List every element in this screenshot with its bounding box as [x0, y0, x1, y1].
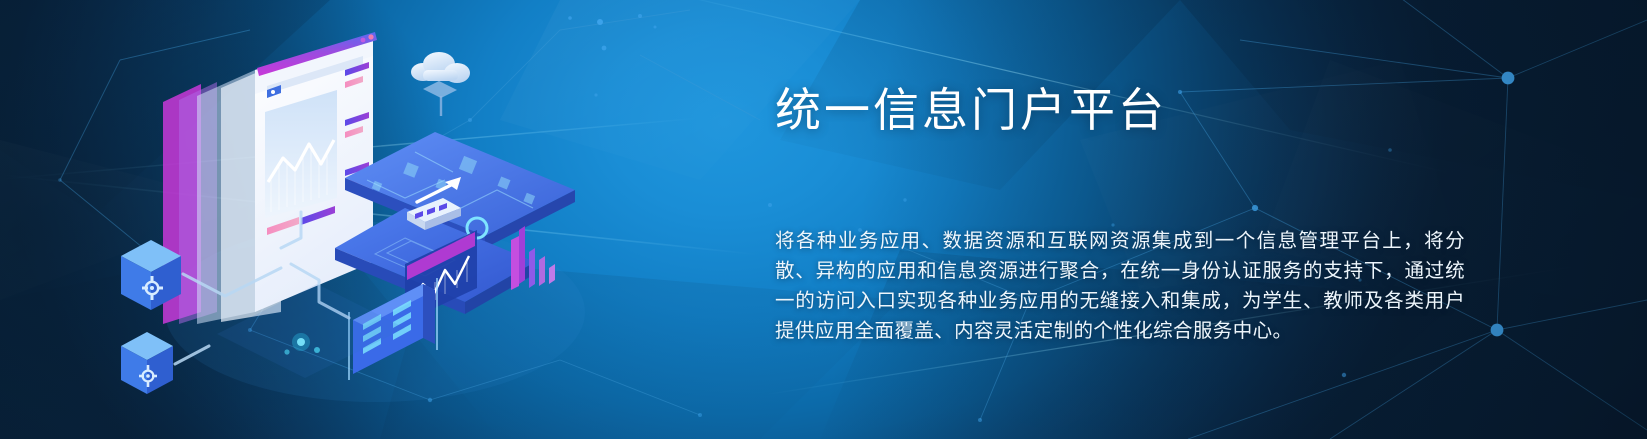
isometric-data-platform-illustration [105, 12, 625, 412]
settings-cube-secondary [121, 332, 173, 394]
banner-description: 将各种业务应用、数据资源和互联网资源集成到一个信息管理平台上，将分散、异构的应用… [775, 140, 1465, 346]
page-title: 统一信息门户平台 [775, 82, 1475, 140]
banner-copy: 统一信息门户平台 将各种业务应用、数据资源和互联网资源集成到一个信息管理平台上，… [775, 82, 1475, 346]
cloud-icon [411, 52, 470, 116]
unified-portal-banner: 统一信息门户平台 将各种业务应用、数据资源和互联网资源集成到一个信息管理平台上，… [0, 0, 1647, 439]
